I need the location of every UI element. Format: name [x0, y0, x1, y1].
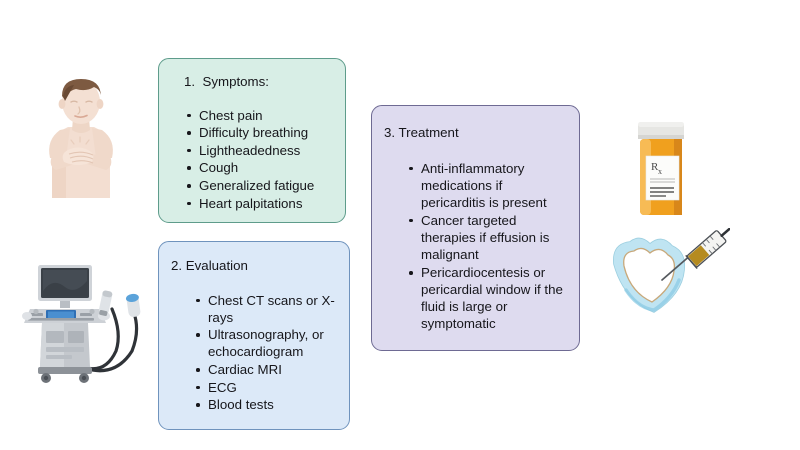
symptoms-box: 1. Symptoms: Chest pain Difficulty breat…: [158, 58, 346, 223]
list-item: Pericardiocentesis or pericardial window…: [406, 264, 567, 332]
ultrasound-machine-illustration: [16, 247, 148, 389]
patient-chest-pain-icon: [22, 66, 140, 198]
evaluation-heading: 2. Evaluation: [171, 258, 337, 275]
treatment-box: 3. Treatment Anti-inflammatory medicatio…: [371, 105, 580, 351]
list-item: Chest CT scans or X-rays: [193, 292, 337, 326]
heart-syringe-icon: [600, 228, 730, 326]
list-item: Difficulty breathing: [184, 124, 333, 141]
list-item: Heart palpitations: [184, 195, 333, 212]
patient-chest-pain-illustration: [22, 66, 140, 198]
infographic-canvas: 1. Symptoms: Chest pain Difficulty breat…: [0, 0, 800, 450]
list-item: Anti-inflammatory medications if pericar…: [406, 160, 567, 211]
symptoms-heading: 1. Symptoms:: [184, 74, 333, 91]
pill-bottle-icon: R x: [626, 118, 696, 218]
treatment-list: Anti-inflammatory medications if pericar…: [406, 160, 567, 333]
list-item: Chest pain: [184, 107, 333, 124]
treatment-heading: 3. Treatment: [384, 125, 567, 142]
list-item: Lightheadedness: [184, 142, 333, 159]
list-item: Cancer targeted therapies if effusion is…: [406, 212, 567, 263]
pericardiocentesis-heart-syringe-illustration: [600, 228, 730, 326]
list-item: Cough: [184, 159, 333, 176]
list-item: Ultrasonography, or echocardiogram: [193, 326, 337, 360]
list-item: Generalized fatigue: [184, 177, 333, 194]
evaluation-box: 2. Evaluation Chest CT scans or X-rays U…: [158, 241, 350, 430]
evaluation-list: Chest CT scans or X-rays Ultrasonography…: [193, 292, 337, 414]
prescription-pill-bottle-illustration: R x: [626, 118, 696, 218]
ultrasound-machine-icon: [16, 247, 148, 389]
svg-text:x: x: [658, 167, 662, 176]
symptoms-list: Chest pain Difficulty breathing Lighthea…: [184, 107, 333, 212]
list-item: Blood tests: [193, 396, 337, 413]
list-item: Cardiac MRI: [193, 361, 337, 378]
list-item: ECG: [193, 379, 337, 396]
